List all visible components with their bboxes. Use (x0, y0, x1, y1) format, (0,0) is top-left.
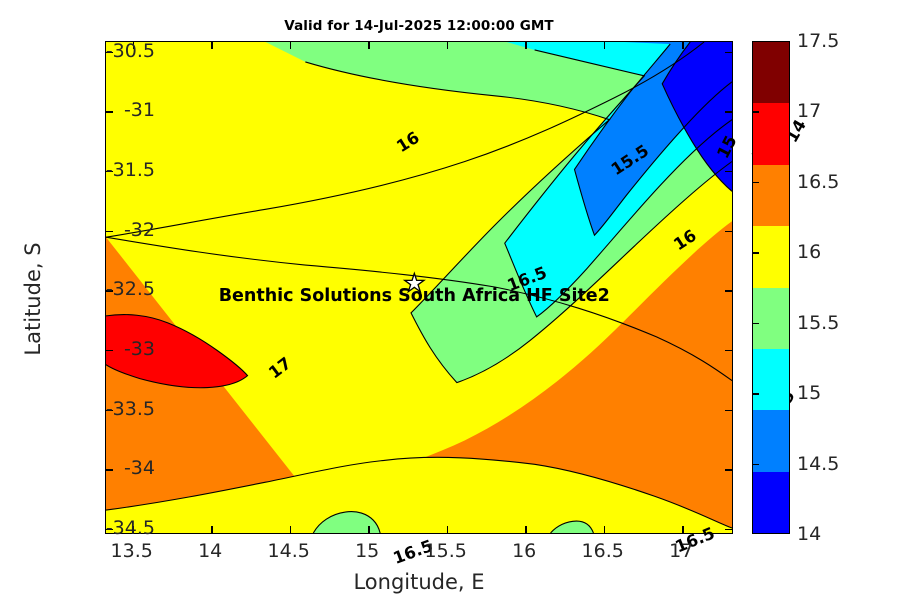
x-tick-label: 14 (198, 540, 222, 562)
x-tick-label: 15 (355, 540, 379, 562)
x-tick (368, 526, 369, 533)
colorbar-band (753, 165, 789, 226)
colorbar-band (753, 349, 789, 410)
y-tick-label: -31.5 (106, 159, 155, 181)
x-axis-title: Longitude, E (105, 570, 733, 594)
colorbar[interactable] (752, 41, 790, 534)
x-tick (525, 42, 526, 49)
colorbar-tick-label: 14 (797, 523, 821, 545)
y-tick (106, 469, 113, 470)
colorbar-band (753, 288, 789, 349)
y-tick-label: -34 (124, 457, 155, 479)
colorbar-band (753, 42, 789, 103)
x-tick (682, 42, 683, 49)
x-tick-label: 13.5 (111, 540, 153, 562)
y-tick-label: -32 (124, 219, 155, 241)
x-tick (368, 42, 369, 49)
colorbar-tick-label: 15 (797, 382, 821, 404)
y-tick-label: -32.5 (106, 278, 155, 300)
colorbar-tick-label: 15.5 (797, 312, 839, 334)
x-tick (290, 526, 291, 533)
colorbar-tick (752, 464, 759, 465)
x-tick (447, 526, 448, 533)
y-tick (725, 469, 732, 470)
x-tick (525, 526, 526, 533)
y-tick-label: -31 (124, 99, 155, 121)
y-tick (725, 529, 732, 530)
x-tick-label: 16 (512, 540, 536, 562)
colorbar-tick (752, 393, 759, 394)
y-tick-label: -34.5 (106, 517, 155, 539)
x-tick (604, 42, 605, 49)
y-tick-label: -30.5 (106, 40, 155, 62)
x-tick (447, 42, 448, 49)
site-name-label: Benthic Solutions South Africa HF Site2 (219, 286, 610, 306)
y-tick (725, 231, 732, 232)
colorbar-tick (752, 323, 759, 324)
colorbar-band (753, 226, 789, 287)
contour-figure: Valid for 14-Jul-2025 12:00:00 GMT (0, 0, 900, 600)
x-tick-label: 14.5 (268, 540, 310, 562)
x-tick (290, 42, 291, 49)
y-tick (106, 231, 113, 232)
y-tick-label: -33 (124, 338, 155, 360)
x-tick-label: 17 (669, 540, 693, 562)
x-tick (211, 526, 212, 533)
y-tick (725, 52, 732, 53)
y-tick (725, 171, 732, 172)
x-tick (604, 526, 605, 533)
y-tick (725, 410, 732, 411)
y-axis-title: Latitude, S (21, 174, 45, 424)
colorbar-tick-label: 16.5 (797, 171, 839, 193)
colorbar-tick (752, 252, 759, 253)
colorbar-tick (752, 111, 759, 112)
colorbar-tick-label: 17.5 (797, 30, 839, 52)
colorbar-band (753, 472, 789, 533)
y-tick (725, 350, 732, 351)
y-tick (106, 350, 113, 351)
colorbar-tick-label: 16 (797, 241, 821, 263)
colorbar-tick-label: 14.5 (797, 453, 839, 475)
x-tick (682, 526, 683, 533)
y-tick-label: -33.5 (106, 398, 155, 420)
y-tick (106, 111, 113, 112)
y-tick (725, 111, 732, 112)
plot-title: Valid for 14-Jul-2025 12:00:00 GMT (105, 18, 733, 34)
x-tick (211, 42, 212, 49)
colorbar-tick-label: 17 (797, 100, 821, 122)
y-tick (725, 290, 732, 291)
colorbar-band (753, 410, 789, 471)
colorbar-tick (752, 182, 759, 183)
x-tick-label: 15.5 (425, 540, 467, 562)
x-tick-label: 16.5 (582, 540, 624, 562)
